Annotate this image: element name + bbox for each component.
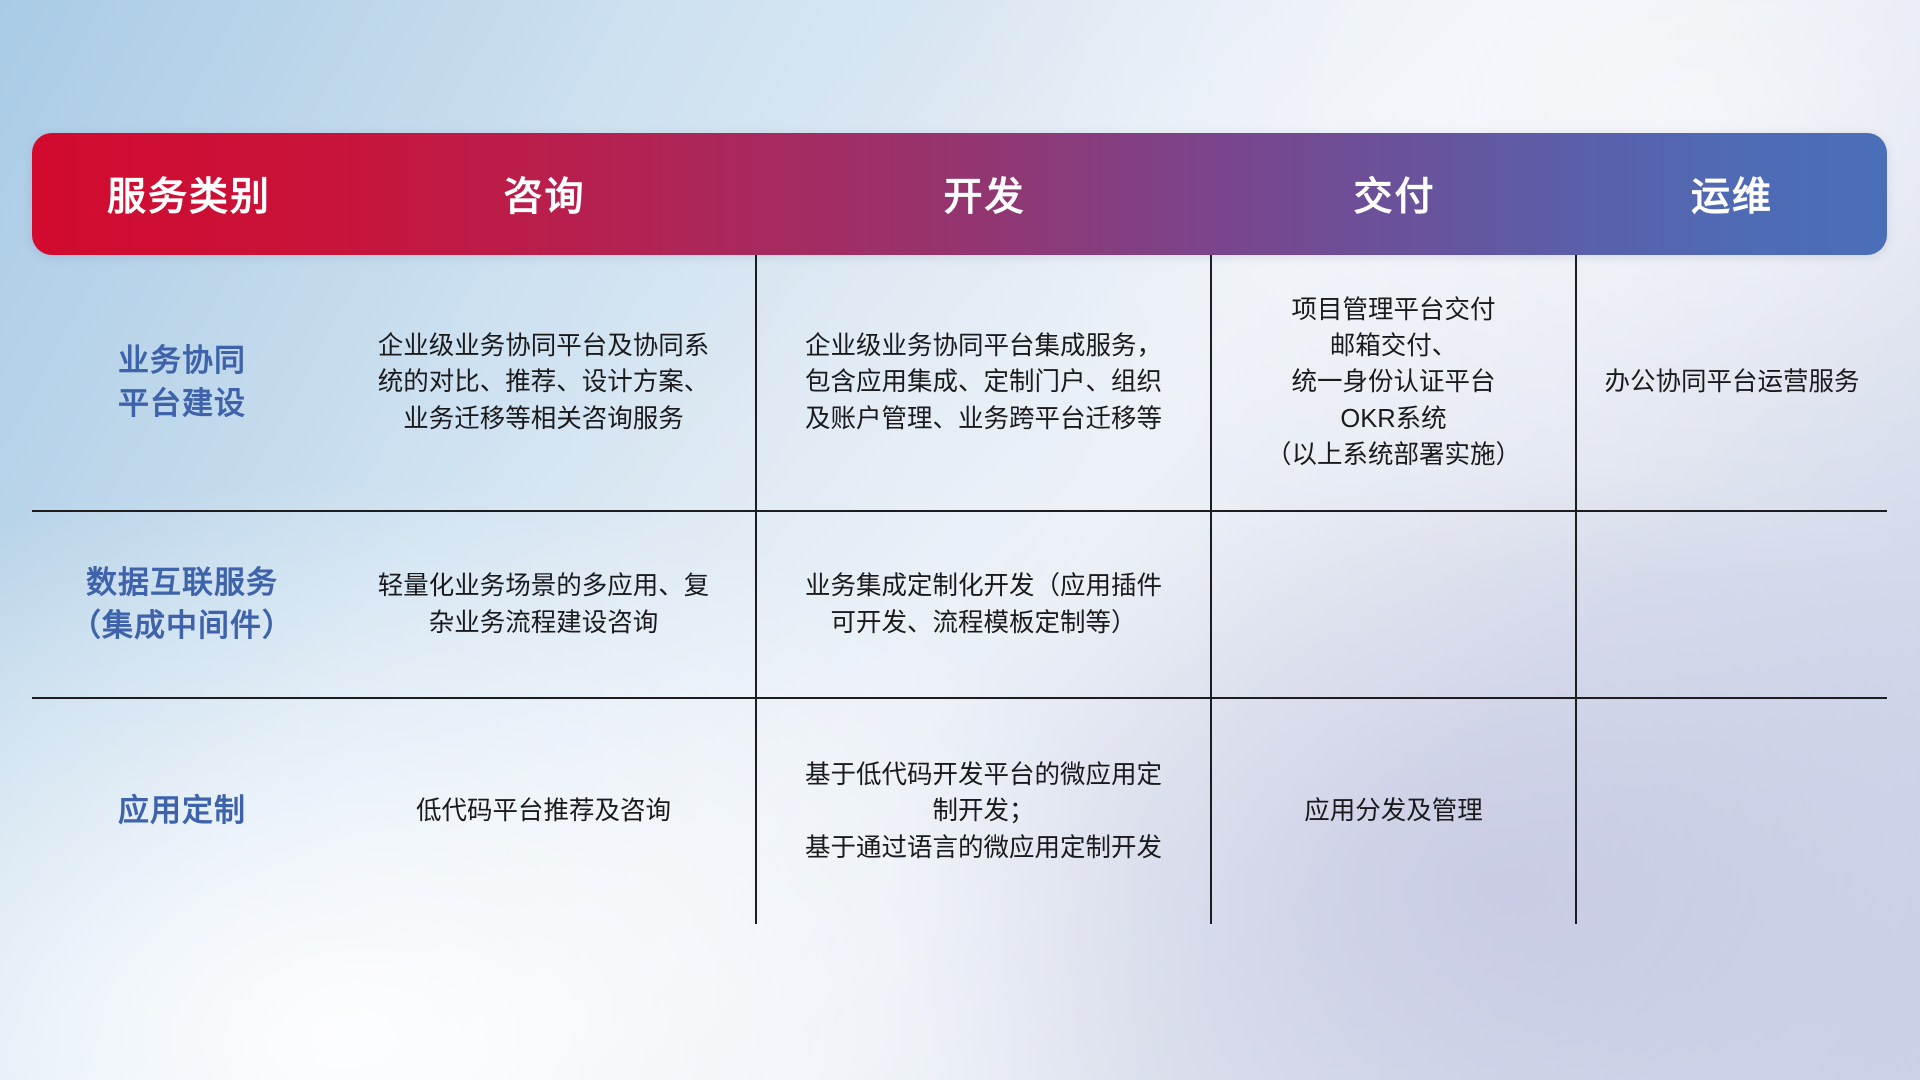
- cell-consulting-row-3: 低代码平台推荐及咨询: [332, 699, 757, 924]
- cell-operations-row-1: 办公协同平台运营服务: [1577, 255, 1887, 510]
- cell-delivery-row-2: [1212, 512, 1577, 697]
- header-cell-operations: 运维: [1577, 166, 1887, 222]
- cell-consulting-row-2: 轻量化业务场景的多应用、复 杂业务流程建设咨询: [332, 512, 757, 697]
- cell-operations-row-3: [1577, 699, 1887, 924]
- header-cell-consulting: 咨询: [332, 166, 757, 222]
- slide-canvas: 服务类别 咨询 开发 交付 运维 业务协同 平台建设 企业级业务协同平台及协同系…: [0, 0, 1920, 1080]
- cell-development-row-1: 企业级业务协同平台集成服务， 包含应用集成、定制门户、组织 及账户管理、业务跨平…: [757, 255, 1212, 510]
- table-header-row: 服务类别 咨询 开发 交付 运维: [32, 133, 1887, 255]
- cell-delivery-row-1: 项目管理平台交付 邮箱交付、 统一身份认证平台 OKR系统 （以上系统部署实施）: [1212, 255, 1577, 510]
- cell-development-row-2: 业务集成定制化开发（应用插件 可开发、流程模板定制等）: [757, 512, 1212, 697]
- cell-operations-row-2: [1577, 512, 1887, 697]
- header-cell-service-category: 服务类别: [32, 166, 332, 222]
- table-row: 应用定制 低代码平台推荐及咨询 基于低代码开发平台的微应用定 制开发； 基于通过…: [32, 699, 1887, 924]
- table-body: 业务协同 平台建设 企业级业务协同平台及协同系 统的对比、推荐、设计方案、 业务…: [32, 255, 1887, 924]
- header-cell-development: 开发: [757, 166, 1212, 222]
- cell-delivery-row-3: 应用分发及管理: [1212, 699, 1577, 924]
- table-row: 业务协同 平台建设 企业级业务协同平台及协同系 统的对比、推荐、设计方案、 业务…: [32, 255, 1887, 512]
- cell-consulting-row-1: 企业级业务协同平台及协同系 统的对比、推荐、设计方案、 业务迁移等相关咨询服务: [332, 255, 757, 510]
- row-label-data-interconnect: 数据互联服务 （集成中间件）: [32, 512, 332, 697]
- cell-development-row-3: 基于低代码开发平台的微应用定 制开发； 基于通过语言的微应用定制开发: [757, 699, 1212, 924]
- table-row: 数据互联服务 （集成中间件） 轻量化业务场景的多应用、复 杂业务流程建设咨询 业…: [32, 512, 1887, 699]
- service-matrix-table: 服务类别 咨询 开发 交付 运维 业务协同 平台建设 企业级业务协同平台及协同系…: [32, 133, 1887, 924]
- row-label-app-customization: 应用定制: [32, 699, 332, 924]
- row-label-business-collaboration: 业务协同 平台建设: [32, 255, 332, 510]
- header-cell-delivery: 交付: [1212, 166, 1577, 222]
